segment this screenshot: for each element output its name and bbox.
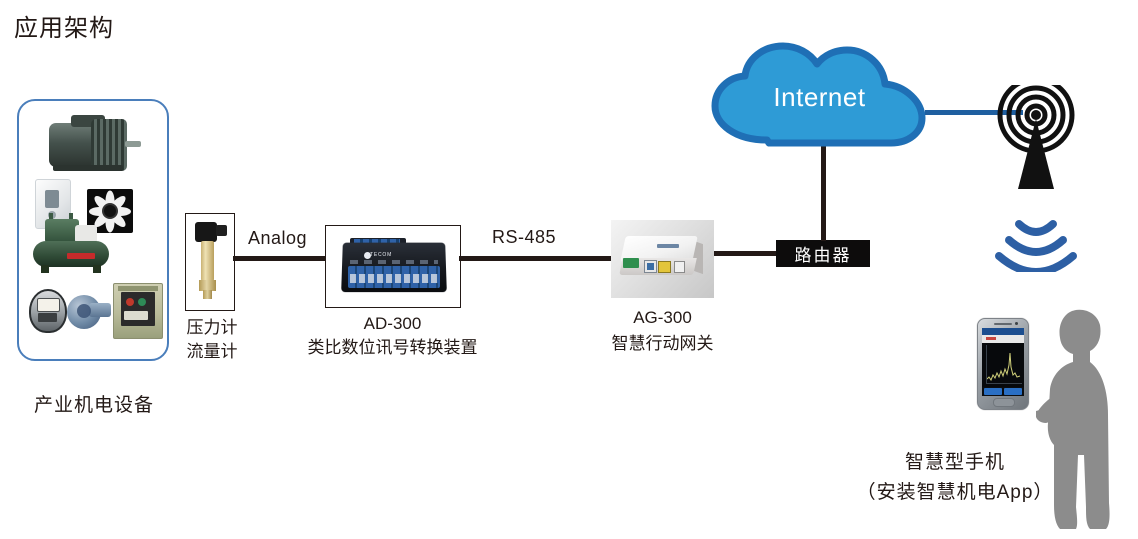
gateway-to-router-link — [714, 251, 776, 256]
gateway-port-yellow — [658, 261, 671, 273]
gateway-logo — [657, 244, 679, 248]
rs485-link-label: RS-485 — [492, 227, 556, 248]
analog-link-label: Analog — [248, 228, 307, 249]
chart-x-axis — [986, 383, 1022, 384]
circuit-breaker-icon — [113, 283, 163, 339]
compressor-foot-right — [93, 265, 101, 273]
compressor-pump-head — [45, 219, 79, 243]
industrial-equipment-caption: 产业机电设备 — [14, 390, 174, 417]
smartphone-caption: 智慧型手机 （安装智慧机电App） — [820, 448, 1090, 508]
energy-meter-icon — [29, 289, 67, 333]
smartphone-device[interactable] — [977, 318, 1029, 410]
phone-camera — [1015, 322, 1018, 325]
smartphone-icon[interactable] — [982, 328, 1024, 396]
electric-motor-shaft — [125, 141, 141, 147]
ag-300-gateway — [611, 220, 714, 298]
breaker-label — [124, 311, 148, 320]
water-pump-icon — [65, 291, 111, 329]
phone-caption-line1: 智慧型手机 — [820, 448, 1090, 478]
compressor-brand-strip — [67, 253, 95, 259]
ad300-caption-line1: AD-300 — [300, 312, 485, 336]
industrial-equipment-group — [17, 99, 169, 361]
ad-300-converter: TECOM — [325, 225, 461, 308]
electric-motor-fins — [91, 119, 127, 171]
gateway-terminal-green — [623, 258, 639, 268]
meter-dial — [37, 298, 60, 312]
sensor-to-converter-link — [233, 256, 325, 261]
ad300-caption-line2: 类比数位讯号转换装置 — [300, 336, 485, 360]
gateway-port-blue — [644, 260, 657, 273]
app-button-right[interactable] — [1004, 388, 1022, 395]
electric-motor-base — [53, 165, 123, 171]
gateway-port-rj — [674, 261, 685, 273]
router-node: 路由器 — [776, 240, 870, 267]
wireless-signal-icon — [993, 218, 1079, 272]
app-button-left[interactable] — [984, 388, 1002, 395]
ad300-brand-text: TECOM — [370, 252, 392, 258]
converter-to-gateway-link — [459, 256, 611, 261]
sensor-body — [201, 241, 214, 281]
vfd-display — [45, 190, 59, 208]
ag300-caption-line2: 智慧行动网关 — [575, 331, 750, 357]
breaker-top-bar — [118, 286, 158, 291]
breaker-close-button — [138, 298, 146, 306]
pressure-flow-sensor — [185, 213, 235, 311]
app-title-bar — [982, 328, 1024, 335]
internet-cloud: Internet — [707, 42, 932, 152]
app-chart-area — [982, 343, 1024, 387]
chart-y-axis — [986, 345, 987, 383]
page-title: 应用架构 — [14, 8, 114, 43]
sensor-caption-line2: 流量计 — [178, 340, 246, 364]
router-to-cloud-link — [821, 145, 826, 241]
pump-marking — [77, 304, 91, 318]
app-button-row[interactable] — [983, 388, 1023, 395]
ag-300-caption: AG-300 智慧行动网关 — [575, 305, 750, 357]
ad-300-caption: AD-300 类比数位讯号转换装置 — [300, 312, 485, 360]
sensor-caption-line1: 压力计 — [178, 316, 246, 340]
sensor-caption: 压力计 流量计 — [178, 316, 246, 364]
router-label: 路由器 — [795, 241, 852, 266]
app-subheader — [982, 335, 1024, 343]
ag300-caption-line1: AG-300 — [575, 305, 750, 331]
ad300-terminal-labels — [350, 260, 438, 264]
phone-home-button[interactable] — [993, 398, 1015, 407]
pump-inlet — [89, 303, 111, 317]
pressure-transmitter-icon — [195, 222, 217, 242]
diagram-canvas: 应用架构 — [0, 0, 1138, 539]
meter-register — [38, 313, 57, 322]
breaker-trip-button — [126, 298, 134, 306]
internet-label: Internet — [707, 42, 932, 152]
phone-caption-line2: （安装智慧机电App） — [820, 478, 1090, 508]
sensor-connector — [216, 225, 227, 236]
breaker-faceplate — [121, 292, 155, 326]
phone-earpiece — [994, 323, 1012, 325]
cell-tower-icon — [985, 85, 1087, 195]
sensor-process-tip — [203, 290, 212, 299]
fan-hub — [104, 205, 116, 217]
compressor-foot-left — [41, 265, 49, 273]
ad300-screw-row — [350, 274, 438, 283]
